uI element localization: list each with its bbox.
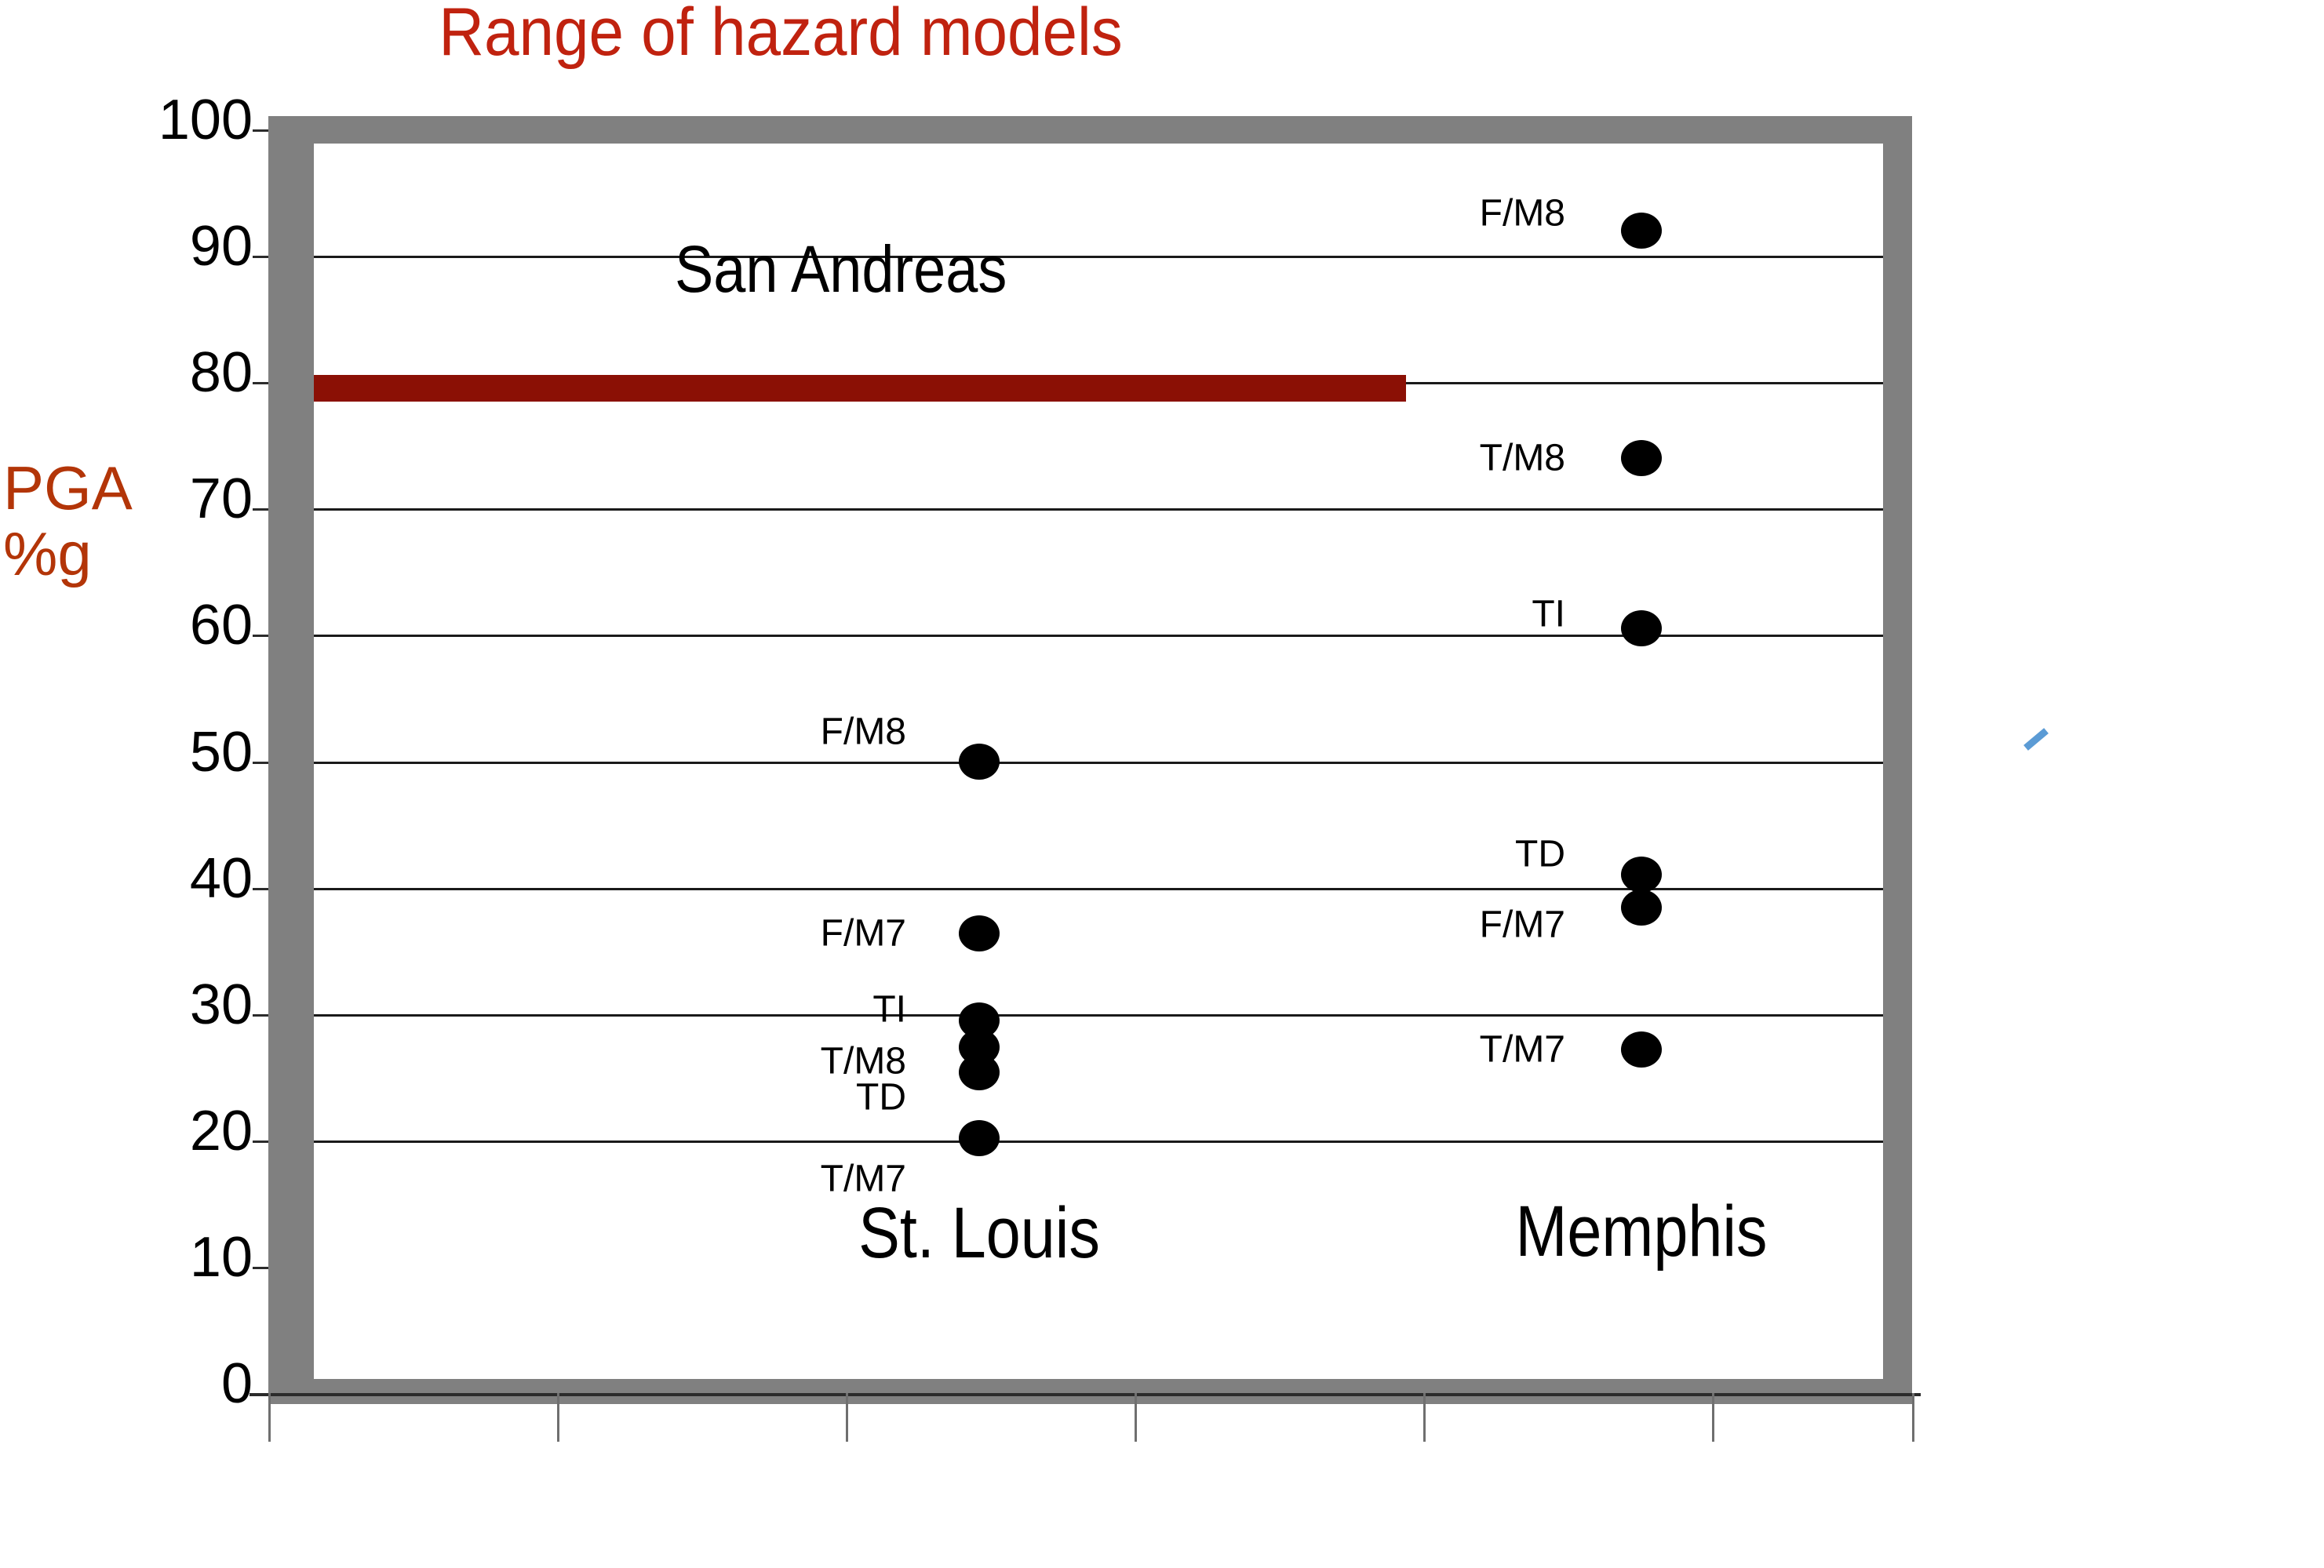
y-tick-label-60: 60: [84, 597, 253, 653]
point-label-memphis-fm7: F/M7: [1480, 904, 1565, 947]
y-tick-label-80: 80: [84, 344, 253, 401]
x-tick-mark-1: [557, 1393, 559, 1442]
data-point-stlouis-fm7: [959, 915, 1000, 951]
y-tick-label-100: 100: [84, 92, 253, 148]
data-point-memphis-tm7: [1621, 1031, 1662, 1068]
city-label-st-louis: St. Louis: [858, 1192, 1100, 1275]
point-label-stlouis-ti: TI: [872, 988, 906, 1031]
y-axis-title-line2: %g: [3, 521, 184, 587]
point-label-stlouis-fm8: F/M8: [821, 710, 906, 753]
gridline-90: [314, 256, 1883, 258]
city-label-memphis: Memphis: [1516, 1191, 1768, 1273]
point-label-stlouis-fm7: F/M7: [821, 911, 906, 955]
point-label-memphis-ti: TI: [1532, 593, 1565, 636]
gridline-20: [314, 1141, 1883, 1143]
x-tick-mark-5: [1712, 1393, 1714, 1442]
data-point-memphis-fm7: [1621, 890, 1662, 926]
point-label-memphis-td: TD: [1515, 833, 1565, 876]
gridline-30: [314, 1014, 1883, 1017]
y-tick-label-40: 40: [84, 850, 253, 907]
point-label-stlouis-td: TD: [856, 1075, 906, 1119]
x-tick-mark-0: [268, 1393, 271, 1442]
y-tick-label-10: 10: [84, 1229, 253, 1286]
data-point-memphis-fm8: [1621, 213, 1662, 249]
x-tick-mark-3: [1135, 1393, 1137, 1442]
point-label-memphis-fm8: F/M8: [1480, 191, 1565, 235]
san-andreas-bar: [314, 375, 1406, 402]
data-point-stlouis-fm8: [959, 744, 1000, 780]
san-andreas-label: San Andreas: [675, 231, 1007, 307]
gridline-50: [314, 762, 1883, 764]
gridline-70: [314, 508, 1883, 511]
data-point-stlouis-td: [959, 1054, 1000, 1090]
x-axis-line: [250, 1393, 1921, 1396]
y-tick-label-50: 50: [84, 724, 253, 780]
y-tick-label-0: 0: [84, 1355, 253, 1412]
y-tick-label-70: 70: [84, 471, 253, 527]
point-label-memphis-tm8: T/M8: [1480, 436, 1565, 479]
y-tick-label-90: 90: [84, 218, 253, 275]
y-tick-label-30: 30: [84, 977, 253, 1033]
x-tick-mark-4: [1423, 1393, 1426, 1442]
data-point-memphis-ti: [1621, 610, 1662, 646]
data-point-stlouis-tm7: [959, 1120, 1000, 1156]
point-label-memphis-tm7: T/M7: [1480, 1028, 1565, 1071]
data-point-memphis-tm8: [1621, 440, 1662, 476]
chart-title: Range of hazard models: [55, 0, 1507, 71]
stray-blue-mark-icon: [2023, 728, 2049, 751]
x-tick-mark-2: [846, 1393, 848, 1442]
y-tick-label-20: 20: [84, 1103, 253, 1159]
x-tick-mark-6: [1912, 1393, 1914, 1442]
